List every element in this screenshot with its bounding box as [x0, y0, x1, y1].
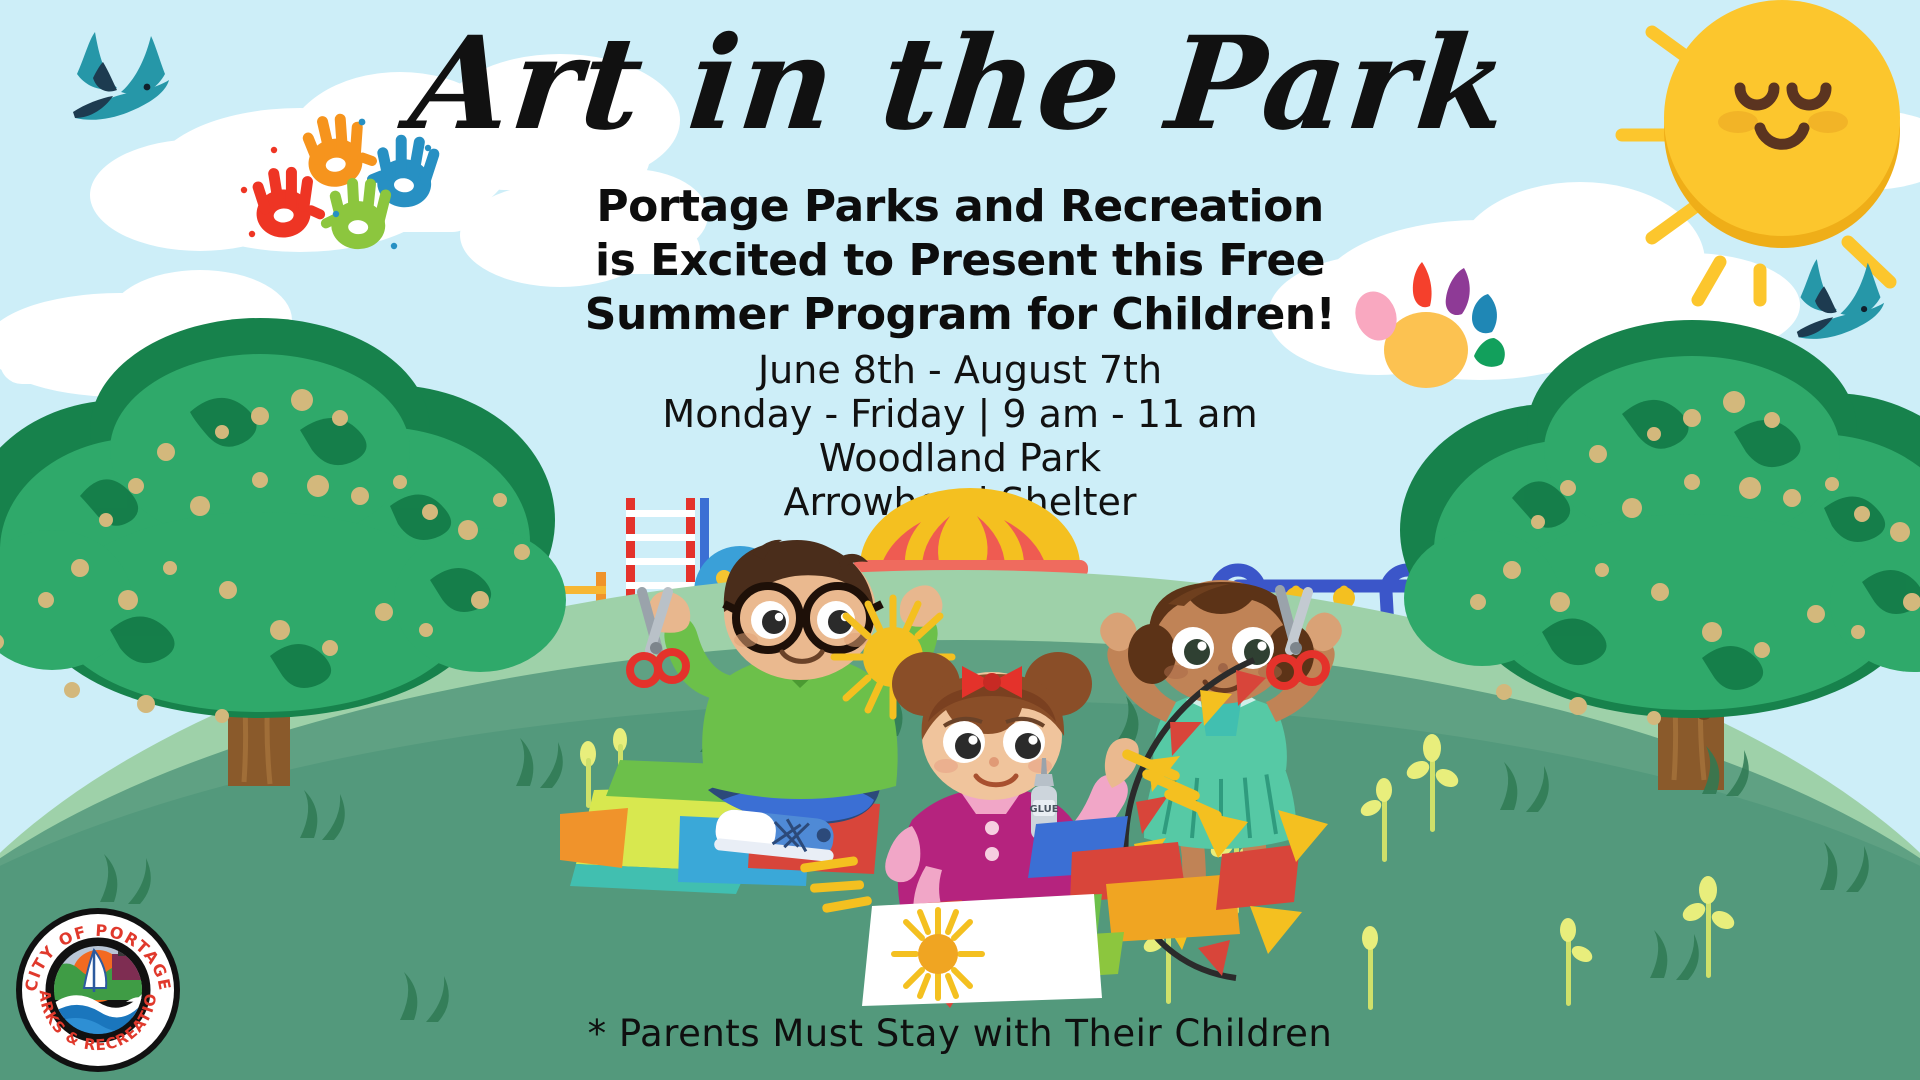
paper-strips [800, 830, 1000, 920]
paper-strips [1120, 740, 1280, 830]
headline-line-2: is Excited to Present this Free [0, 236, 1920, 285]
footnote-text: * Parents Must Stay with Their Children [0, 1012, 1920, 1055]
scissors-icon [616, 586, 696, 696]
city-of-portage-logo: CITY OF PORTAGE PARKS & RECREATION [14, 906, 182, 1074]
page-title: Art in the Park [0, 20, 1920, 148]
headline-line-1: Portage Parks and Recreation [0, 182, 1920, 231]
poster-canvas: Art in the Park Portage Parks and Recrea… [0, 0, 1920, 1080]
